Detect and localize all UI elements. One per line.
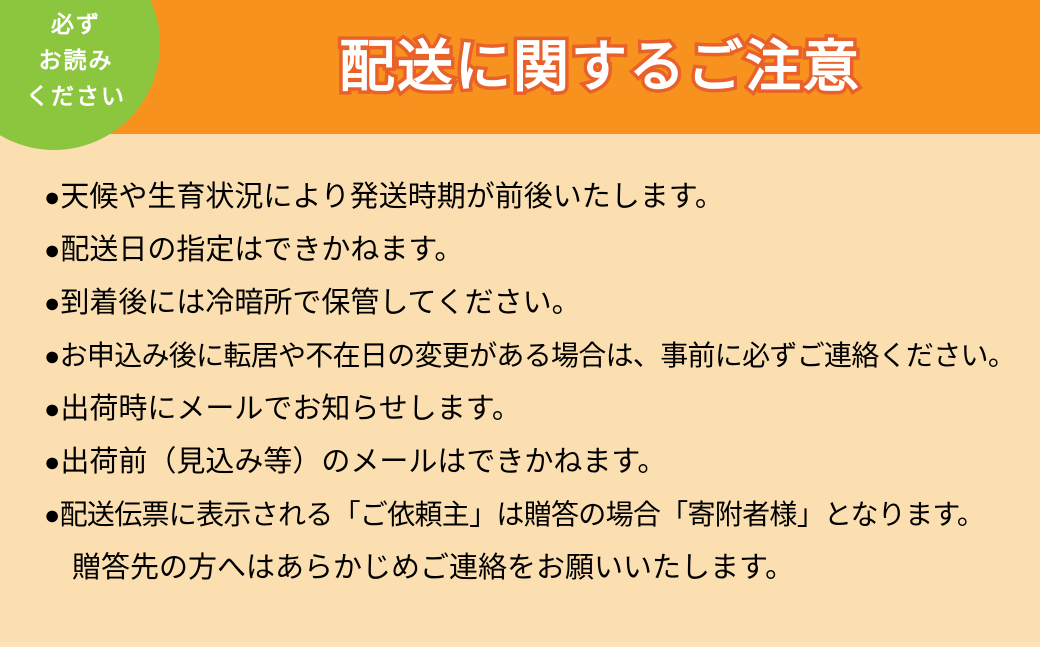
notice-item-text: 天候や生育状況により発送時期が前後いたします。 <box>60 176 724 218</box>
notice-list: ●天候や生育状況により発送時期が前後いたします。●配送日の指定はできかねます。●… <box>44 176 1036 600</box>
page-title: 配送に関するご注意 <box>160 25 1040 109</box>
notice-item-text: 配送伝票に表示される「ご依頼主」は贈答の場合「寄附者様」となります。 <box>60 494 985 536</box>
shipping-notice-card: 必ず お読み ください 配送に関するご注意 ●天候や生育状況により発送時期が前後… <box>0 0 1040 647</box>
bullet-icon: ● <box>44 229 60 271</box>
bullet-icon: ● <box>44 282 60 324</box>
notice-item: 贈答先の方へはあらかじめご連絡をお願いいたします。 <box>44 547 1036 600</box>
notice-item: ●配送伝票に表示される「ご依頼主」は贈答の場合「寄附者様」となります。 <box>44 494 1036 547</box>
notice-item-text: 到着後には冷暗所で保管してください。 <box>60 282 580 324</box>
notice-item-text: 配送日の指定はできかねます。 <box>60 229 463 271</box>
bullet-icon: ● <box>44 494 60 536</box>
notice-item: ●天候や生育状況により発送時期が前後いたします。 <box>44 176 1036 229</box>
notice-item: ●到着後には冷暗所で保管してください。 <box>44 282 1036 335</box>
bullet-icon: ● <box>44 441 60 483</box>
bullet-icon: ● <box>44 176 60 218</box>
bottom-accent-strip <box>0 642 1040 647</box>
notice-item: ●出荷前（見込み等）のメールはできかねます。 <box>44 441 1036 494</box>
bullet-icon: ● <box>44 388 60 430</box>
notice-item-text: お申込み後に転居や不在日の変更がある場合は、事前に必ずご連絡ください。 <box>60 335 1016 377</box>
notice-item-text: 贈答先の方へはあらかじめご連絡をお願いいたします。 <box>72 547 794 589</box>
notice-item-text: 出荷時にメールでお知らせします。 <box>60 388 521 430</box>
bullet-icon: ● <box>44 335 60 377</box>
notice-item: ●出荷時にメールでお知らせします。 <box>44 388 1036 441</box>
notice-item: ●お申込み後に転居や不在日の変更がある場合は、事前に必ずご連絡ください。 <box>44 335 1036 388</box>
notice-item-text: 出荷前（見込み等）のメールはできかねます。 <box>60 441 666 483</box>
notice-item: ●配送日の指定はできかねます。 <box>44 229 1036 282</box>
